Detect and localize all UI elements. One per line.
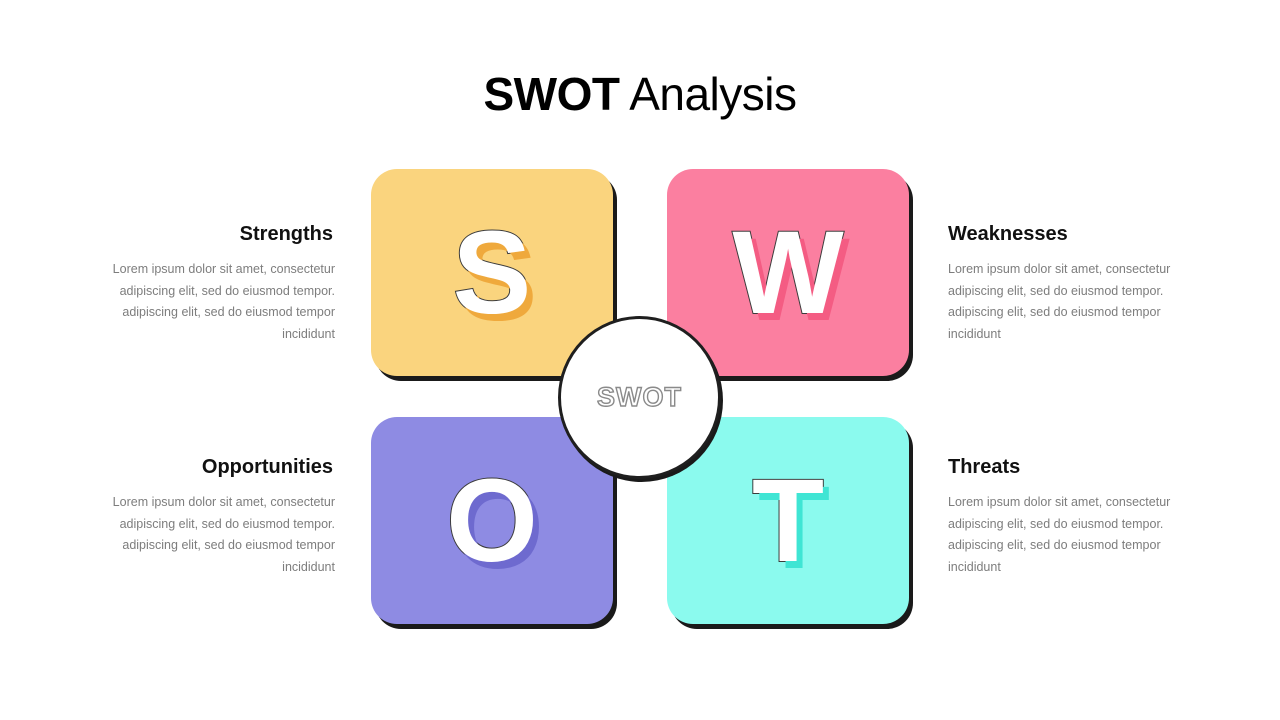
- page-title: SWOT Analysis: [0, 64, 1280, 124]
- body-weaknesses: Lorem ipsum dolor sit amet, consectetur …: [948, 259, 1180, 345]
- heading-weaknesses: Weaknesses: [948, 221, 1180, 247]
- swot-letter-w: W: [667, 169, 909, 376]
- text-block-weaknesses: Weaknesses Lorem ipsum dolor sit amet, c…: [948, 221, 1180, 345]
- heading-opportunities: Opportunities: [103, 454, 335, 480]
- body-opportunities: Lorem ipsum dolor sit amet, consectetur …: [103, 492, 335, 578]
- text-block-threats: Threats Lorem ipsum dolor sit amet, cons…: [948, 454, 1180, 578]
- text-block-strengths: Strengths Lorem ipsum dolor sit amet, co…: [103, 221, 335, 345]
- heading-strengths: Strengths: [103, 221, 335, 247]
- title-bold-word: SWOT: [483, 68, 619, 120]
- swot-analysis-slide: SWOT Analysis S W O T SWOT Strengths Lor…: [0, 0, 1280, 720]
- center-swot-label: SWOT: [597, 382, 682, 413]
- heading-threats: Threats: [948, 454, 1180, 480]
- center-swot-badge[interactable]: SWOT: [558, 316, 721, 479]
- title-rest: Analysis: [619, 68, 796, 120]
- body-strengths: Lorem ipsum dolor sit amet, consectetur …: [103, 259, 335, 345]
- body-threats: Lorem ipsum dolor sit amet, consectetur …: [948, 492, 1180, 578]
- text-block-opportunities: Opportunities Lorem ipsum dolor sit amet…: [103, 454, 335, 578]
- swot-card-weaknesses[interactable]: W: [667, 169, 909, 376]
